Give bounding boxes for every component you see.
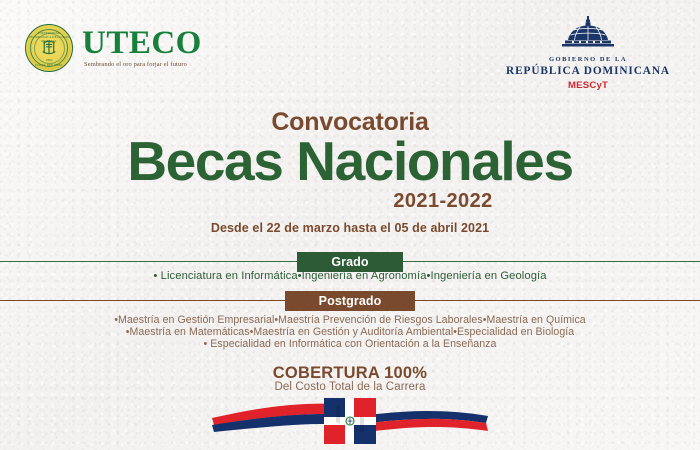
postgrado-program-line-1: •Maestría en Gestión Empresarial•Maestrí… xyxy=(0,314,700,327)
years-label: 2021-2022 xyxy=(0,190,700,213)
page-title: Becas Nacionales xyxy=(0,132,700,190)
dominican-flag-ribbon xyxy=(190,392,510,450)
mescyt-label: MESCyT xyxy=(498,80,678,91)
uteco-seal-icon: UNIVERSIDAD TECNOLOGICA DEL CIBAO ORIENT… xyxy=(25,24,73,72)
capitol-dome-icon xyxy=(559,16,617,50)
grado-banner: Grado xyxy=(297,252,402,272)
dates-label: Desde el 22 de marzo hasta el 05 de abri… xyxy=(0,221,700,235)
poster-header: UNIVERSIDAD TECNOLOGICA DEL CIBAO ORIENT… xyxy=(0,0,700,100)
scholarship-poster: UNIVERSIDAD TECNOLOGICA DEL CIBAO ORIENT… xyxy=(0,0,700,450)
gobierno-line1: GOBIERNO DE LA xyxy=(498,56,678,63)
postgrado-program-line-3: • Especialidad en Informática con Orient… xyxy=(0,338,700,351)
gobierno-line2: REPÚBLICA DOMINICANA xyxy=(498,65,678,77)
postgrado-section-header: Postgrado xyxy=(0,291,700,311)
seal-year: 1982 xyxy=(26,58,72,62)
uteco-logo: UNIVERSIDAD TECNOLOGICA DEL CIBAO ORIENT… xyxy=(25,24,202,72)
postgrado-program-line-2: •Maestría en Matemáticas•Maestría en Ges… xyxy=(0,326,700,339)
lyre-icon xyxy=(40,38,59,57)
uteco-wordmark: UTECO Sembrando el oro para forjar el fu… xyxy=(82,28,202,68)
postgrado-banner: Postgrado xyxy=(285,291,416,311)
gobierno-logo: GOBIERNO DE LA REPÚBLICA DOMINICANA MESC… xyxy=(498,16,678,91)
seal-bottom-text: COTUI, REP. DOM. xyxy=(26,63,72,67)
uteco-tagline: Sembrando el oro para forjar el futuro xyxy=(84,61,202,68)
grado-program-line: • Licenciatura en Informática•Ingeniería… xyxy=(0,270,700,282)
grado-section-header: Grado xyxy=(0,252,700,272)
uteco-name: UTECO xyxy=(82,28,202,59)
